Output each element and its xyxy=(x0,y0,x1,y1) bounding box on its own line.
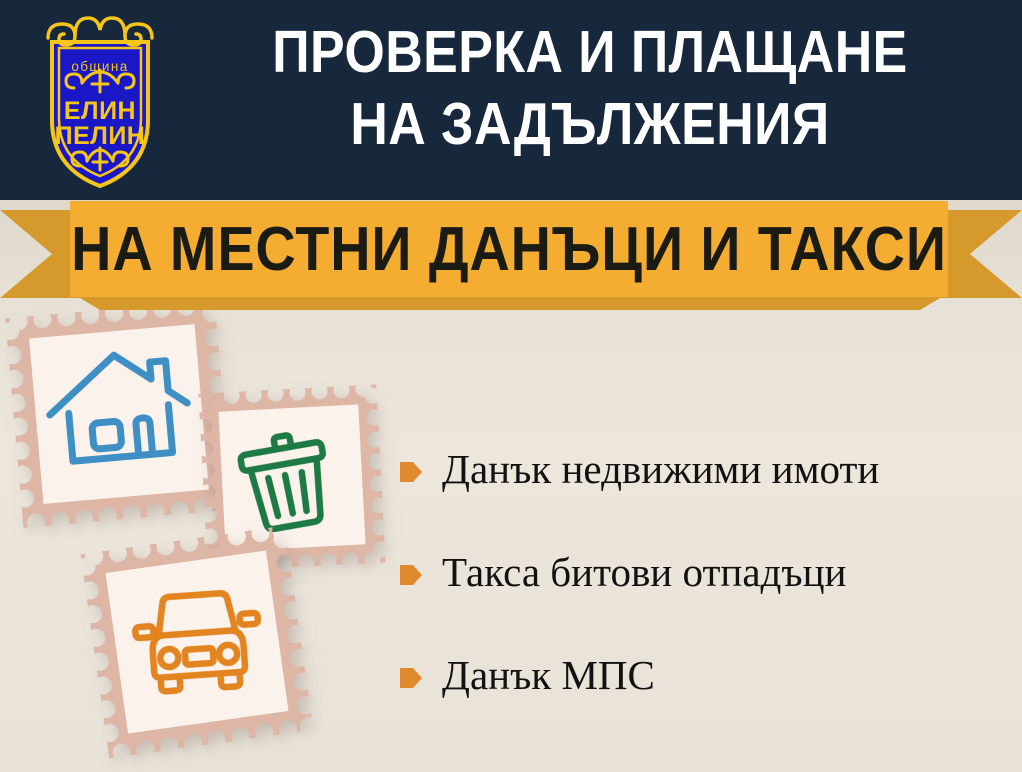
ribbon-banner: НА МЕСТНИ ДАНЪЦИ И ТАКСИ xyxy=(0,196,1022,314)
page-title: ПРОВЕРКА И ПЛАЩАНЕ НА ЗАДЪЛЖЕНИЯ xyxy=(229,16,951,160)
list-item[interactable]: Такса битови отпадъци xyxy=(400,521,1010,624)
arrow-bullet-icon xyxy=(400,460,422,484)
stamp-card-car xyxy=(81,526,314,759)
stamp-card-group xyxy=(0,300,420,772)
emblem-line-1: ЕЛИН xyxy=(64,97,136,125)
emblem-line-2: ПЕЛИН xyxy=(55,122,146,150)
list-item[interactable]: Данък недвижими имоти xyxy=(400,418,1010,521)
ribbon-label: НА МЕСТНИ ДАНЪЦИ И ТАКСИ xyxy=(114,201,904,297)
tax-type-list: Данък недвижими имоти Такса битови отпад… xyxy=(400,418,1010,727)
arrow-bullet-icon xyxy=(400,563,422,587)
arrow-bullet-icon xyxy=(400,666,422,690)
list-item-label: Данък недвижими имоти xyxy=(442,449,879,490)
list-item[interactable]: Данък МПС xyxy=(400,624,1010,727)
municipality-emblem: община ЕЛИН ПЕЛИН xyxy=(30,8,170,192)
poster-canvas: ПРОВЕРКА И ПЛАЩАНЕ НА ЗАДЪЛЖЕНИЯ община xyxy=(0,0,1022,772)
list-item-label: Такса битови отпадъци xyxy=(442,552,846,593)
list-item-label: Данък МПС xyxy=(442,655,655,696)
